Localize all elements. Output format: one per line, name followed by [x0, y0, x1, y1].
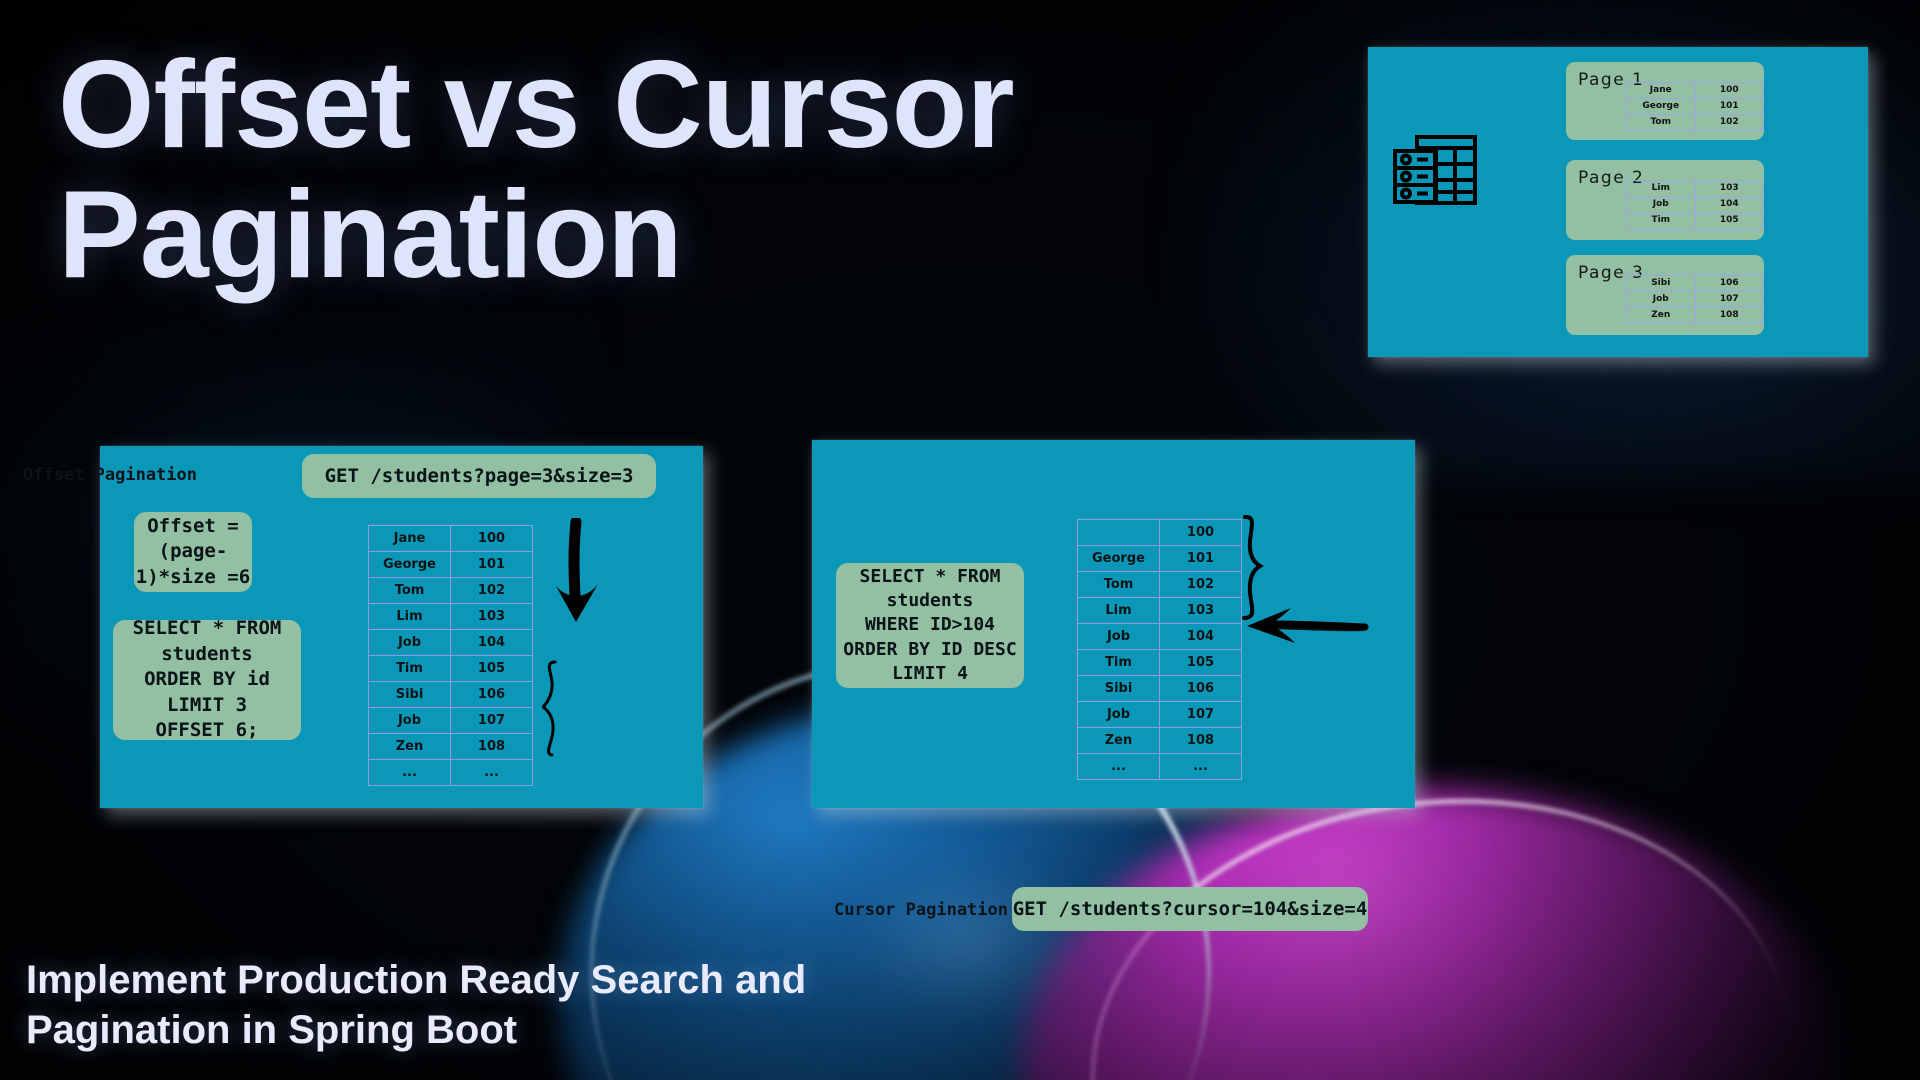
cell-name: Tom	[1078, 572, 1160, 598]
cell-name: George	[369, 552, 451, 578]
cell-name	[1078, 520, 1160, 546]
cell-name: Job	[1627, 292, 1696, 308]
cell-id: 103	[1695, 181, 1764, 197]
table-row: Job 104	[369, 630, 533, 656]
database-table-icon	[1393, 135, 1479, 212]
table-row: Tim 105	[369, 656, 533, 682]
cell-name: Zen	[1627, 308, 1696, 324]
cell-id: 107	[1695, 292, 1764, 308]
cell-id: 108	[1695, 308, 1764, 324]
cell-name: Tom	[1627, 115, 1696, 131]
table-row: Lim 103	[1078, 598, 1242, 624]
cell-name: Tim	[369, 656, 451, 682]
cell-name: Lim	[369, 604, 451, 630]
cell-id: 103	[1160, 598, 1242, 624]
cell-id: 104	[1160, 624, 1242, 650]
cell-id: ...	[451, 760, 533, 786]
cell-id: 102	[451, 578, 533, 604]
cell-name: Sibi	[1627, 276, 1696, 292]
cell-name: Job	[1078, 702, 1160, 728]
page-card: Page 1 Jane 100 George 101 Tom 102	[1566, 62, 1764, 140]
table-row: Job 107	[1078, 702, 1242, 728]
cell-name: Sibi	[1078, 676, 1160, 702]
cell-id: 104	[451, 630, 533, 656]
cell-id: 101	[451, 552, 533, 578]
subtitle: Implement Production Ready Search and Pa…	[26, 955, 866, 1055]
cell-name: Tim	[1627, 213, 1696, 229]
cell-id: 100	[1160, 520, 1242, 546]
table-row: Jane 100	[1627, 83, 1764, 99]
result-set-brace-icon	[542, 660, 572, 763]
offset-formula-box: Offset = (page-1)*size =6	[134, 512, 252, 592]
cursor-panel-title: Cursor Pagination	[834, 900, 1008, 920]
cursor-sql-box: SELECT * FROM students WHERE ID>104 ORDE…	[836, 563, 1024, 688]
cell-id: 108	[451, 734, 533, 760]
cell-id: 105	[451, 656, 533, 682]
table-row: Jane 100	[369, 526, 533, 552]
cell-name: ...	[369, 760, 451, 786]
cell-name: Lim	[1078, 598, 1160, 624]
table-row: 100	[1078, 520, 1242, 546]
cell-id: 103	[451, 604, 533, 630]
cell-name: ...	[1078, 754, 1160, 780]
cell-name: Sibi	[369, 682, 451, 708]
offset-students-table: Jane 100 George 101 Tom 102 Lim 103 Job …	[368, 525, 533, 786]
cell-id: 107	[1160, 702, 1242, 728]
table-row: Tim 105	[1078, 650, 1242, 676]
cell-name: George	[1078, 546, 1160, 572]
cell-name: Job	[1078, 624, 1160, 650]
page-card: Page 3 Sibi 106 Job 107 Zen 108	[1566, 255, 1764, 335]
offset-request-url: GET /students?page=3&size=3	[302, 454, 656, 498]
cell-id: 102	[1160, 572, 1242, 598]
cell-id: ...	[1160, 754, 1242, 780]
table-row: ... ...	[1078, 754, 1242, 780]
table-row: Zen 108	[1078, 728, 1242, 754]
table-row: Tom 102	[369, 578, 533, 604]
cell-id: 105	[1160, 650, 1242, 676]
table-row: Zen 108	[369, 734, 533, 760]
cell-id: 100	[1695, 83, 1764, 99]
table-row: ... ...	[369, 760, 533, 786]
cell-id: 105	[1695, 213, 1764, 229]
table-row: Lim 103	[1627, 181, 1764, 197]
cell-id: 106	[1160, 676, 1242, 702]
offset-sql-box: SELECT * FROM students ORDER BY id LIMIT…	[113, 620, 301, 740]
cell-id: 106	[1695, 276, 1764, 292]
offset-panel-title: Offset Pagination	[23, 465, 197, 485]
table-row: George 101	[1627, 99, 1764, 115]
cell-name: Jane	[369, 526, 451, 552]
cell-name: Tim	[1078, 650, 1160, 676]
table-row: George 101	[369, 552, 533, 578]
cell-name: Zen	[1078, 728, 1160, 754]
cell-id: 108	[1160, 728, 1242, 754]
table-row: Job 104	[1627, 197, 1764, 213]
table-row: Zen 108	[1627, 308, 1764, 324]
page-card-table: Sibi 106 Job 107 Zen 108	[1626, 275, 1764, 324]
page-card: Page 2 Lim 103 Job 104 Tim 105	[1566, 160, 1764, 240]
cursor-request-url: GET /students?cursor=104&size=4	[1012, 887, 1368, 931]
table-row: Job 104	[1078, 624, 1242, 650]
pages-overview-panel: Page 1 Jane 100 George 101 Tom 102 Page …	[1368, 47, 1868, 357]
cell-id: 107	[451, 708, 533, 734]
cell-id: 102	[1695, 115, 1764, 131]
cell-id: 101	[1695, 99, 1764, 115]
table-row: Tom 102	[1078, 572, 1242, 598]
table-row: Sibi 106	[369, 682, 533, 708]
table-row: Tim 105	[1627, 213, 1764, 229]
table-row: Job 107	[1627, 292, 1764, 308]
table-row: Lim 103	[369, 604, 533, 630]
scan-down-arrow-icon	[552, 518, 608, 633]
page-card-table: Lim 103 Job 104 Tim 105	[1626, 180, 1764, 229]
page-card-table: Jane 100 George 101 Tom 102	[1626, 82, 1764, 131]
cell-id: 101	[1160, 546, 1242, 572]
cell-name: Job	[1627, 197, 1696, 213]
cell-name: Job	[369, 708, 451, 734]
cell-name: Tom	[369, 578, 451, 604]
cursor-students-table: 100 George 101 Tom 102 Lim 103 Job 104 T…	[1077, 519, 1242, 780]
page-title: Offset vs Cursor Pagination	[58, 40, 1058, 300]
table-row: Sibi 106	[1078, 676, 1242, 702]
cell-name: George	[1627, 99, 1696, 115]
cell-name: Jane	[1627, 83, 1696, 99]
table-row: Job 107	[369, 708, 533, 734]
table-row: George 101	[1078, 546, 1242, 572]
cursor-pointer-arrow-icon	[1245, 605, 1369, 652]
table-row: Sibi 106	[1627, 276, 1764, 292]
cell-name: Job	[369, 630, 451, 656]
table-row: Tom 102	[1627, 115, 1764, 131]
cell-name: Zen	[369, 734, 451, 760]
cell-name: Lim	[1627, 181, 1696, 197]
cell-id: 104	[1695, 197, 1764, 213]
cell-id: 100	[451, 526, 533, 552]
cell-id: 106	[451, 682, 533, 708]
